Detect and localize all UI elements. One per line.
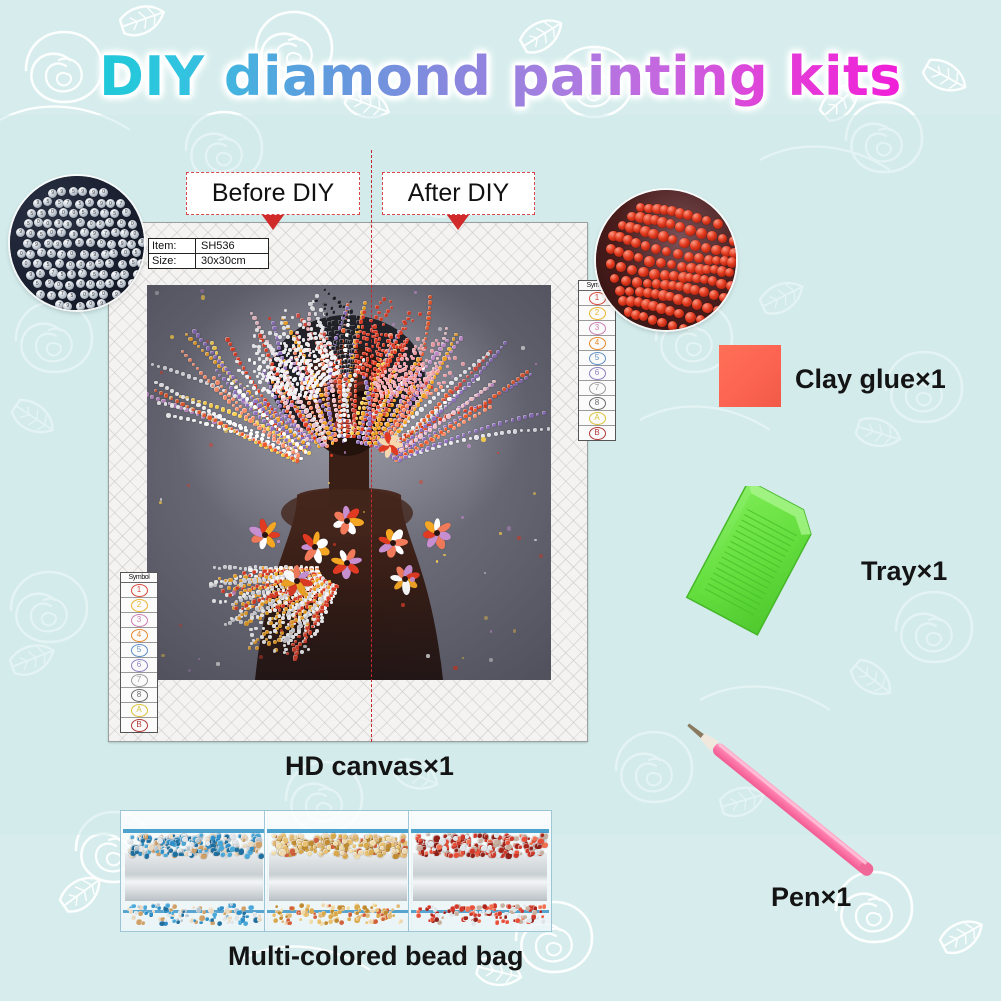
bead [273, 918, 278, 923]
bead [160, 849, 164, 853]
closeup-bead: 0 [96, 280, 105, 289]
bead [509, 910, 513, 914]
bead [199, 921, 203, 925]
closeup-bead: 0 [128, 220, 137, 229]
closeup-bead: 9 [112, 290, 121, 299]
closeup-bead [668, 235, 677, 244]
symbol-row: 6 [579, 366, 615, 381]
bead [193, 919, 196, 922]
bead [130, 835, 134, 839]
closeup-bead: 5 [47, 249, 56, 258]
symbol-row: 6 [121, 658, 157, 673]
pen-label: Pen×1 [771, 882, 851, 913]
symbol-glyph: 8 [131, 689, 148, 702]
bead [539, 910, 542, 913]
closeup-bead: 0 [121, 248, 130, 257]
bead [131, 904, 135, 908]
bead [210, 918, 214, 922]
closeup-bead: 7 [47, 291, 56, 300]
tray-svg [668, 486, 844, 644]
closeup-bead: 9 [97, 199, 106, 208]
bead [234, 847, 238, 851]
closeup-bead: 7 [58, 290, 67, 299]
bead [358, 850, 363, 855]
closeup-bead [675, 222, 685, 232]
closeup-bead [685, 312, 696, 323]
bead [257, 917, 262, 922]
closeup-bead: 5 [117, 279, 126, 288]
tray-image [668, 486, 844, 644]
before-diy-closeup-circle: 9959909557599075500055750500999090009050… [10, 176, 144, 310]
bead [181, 841, 186, 846]
closeup-bead: 7 [101, 229, 110, 238]
pen-svg [666, 706, 916, 906]
bead [309, 908, 314, 913]
bead [465, 906, 470, 911]
bead [317, 919, 322, 924]
bead [219, 906, 223, 910]
closeup-bead [641, 241, 651, 251]
closeup-bead: 9 [118, 260, 127, 269]
closeup-bead: 5 [37, 230, 46, 239]
bead [144, 911, 148, 915]
bead [210, 835, 216, 841]
closeup-bead: 9 [53, 240, 62, 249]
closeup-bead: 0 [48, 208, 57, 217]
bead [252, 912, 257, 917]
bead [504, 915, 508, 919]
symbol-glyph: 6 [131, 659, 148, 672]
bead [131, 915, 136, 920]
red-bead-bag [408, 810, 552, 932]
bead [340, 851, 344, 855]
closeup-bead: 5 [105, 259, 114, 268]
bead [213, 851, 217, 855]
infographic-stage: DIY diamond painting kits Before DIY Aft… [0, 0, 1001, 1001]
bead [339, 920, 344, 925]
bead [143, 905, 147, 909]
bead [333, 850, 339, 856]
bead [453, 836, 458, 841]
closeup-bead: 7 [49, 268, 58, 277]
symbol-glyph: 1 [131, 584, 148, 597]
bead [244, 853, 250, 859]
bead [479, 911, 482, 914]
bead [368, 849, 374, 855]
closeup-bead: 7 [80, 228, 89, 237]
closeup-bead: 7 [55, 259, 64, 268]
symbol-glyph: 5 [131, 644, 148, 657]
bead [392, 853, 399, 860]
bead [439, 838, 446, 845]
bead [129, 909, 134, 914]
closeup-bead: 9 [63, 302, 72, 310]
bead [515, 918, 520, 923]
bead [500, 903, 505, 908]
bead [495, 920, 499, 924]
bead [229, 846, 235, 852]
bead [199, 915, 204, 920]
bead [540, 833, 543, 836]
bead [330, 833, 335, 838]
closeup-bead [668, 321, 678, 330]
closeup-bead [707, 231, 716, 240]
symbol-row: A [121, 703, 157, 718]
bead [482, 904, 487, 909]
closeup-bead [662, 247, 671, 256]
symbol-glyph: 3 [131, 614, 148, 627]
bead [287, 921, 292, 926]
closeup-bead: 9 [118, 239, 127, 248]
bead [245, 915, 248, 918]
closeup-bead [644, 256, 655, 267]
bead [370, 909, 374, 913]
bead [416, 910, 419, 913]
symbol-row: 7 [121, 673, 157, 688]
bead [146, 839, 150, 843]
bead [209, 908, 214, 913]
symbol-row: 8 [121, 688, 157, 703]
before-diy-label: Before DIY [186, 172, 360, 215]
closeup-bead: 7 [23, 239, 32, 248]
closeup-bead [727, 257, 736, 268]
hd-canvas-card [108, 222, 588, 742]
closeup-bead [638, 267, 648, 277]
bead [327, 845, 332, 850]
closeup-bead [616, 262, 626, 272]
bead [509, 836, 513, 840]
closeup-bead: 5 [110, 209, 119, 218]
symbol-glyph: B [131, 719, 148, 732]
bead [196, 907, 202, 913]
symbol-row: 8 [579, 396, 615, 411]
closeup-bead: 0 [99, 188, 108, 197]
bead [203, 847, 207, 851]
bead [180, 919, 183, 922]
symbol-legend-header: Symbol [121, 573, 157, 583]
symbol-row: 5 [121, 643, 157, 658]
closeup-bead: 5 [57, 271, 66, 280]
bead [459, 906, 464, 911]
symbol-row: 7 [579, 381, 615, 396]
size-key: Size: [149, 254, 196, 268]
closeup-bead: 9 [16, 228, 25, 237]
symbol-row: 3 [121, 613, 157, 628]
closeup-bead: 0 [66, 261, 75, 270]
bead [302, 841, 308, 847]
closeup-bead: 5 [80, 250, 89, 259]
closeup-bead: 0 [137, 259, 144, 268]
bead [230, 920, 234, 924]
bead [370, 906, 373, 909]
closeup-bead [719, 293, 728, 302]
closeup-bead [699, 287, 708, 296]
symbol-glyph: 4 [589, 337, 606, 350]
closeup-bead [702, 303, 713, 314]
closeup-bead: 0 [105, 218, 114, 227]
bead [416, 913, 421, 918]
bead [227, 852, 232, 857]
bead [363, 842, 369, 848]
closeup-bead [713, 219, 723, 229]
bead [151, 904, 155, 908]
bead [241, 906, 246, 911]
closeup-bead: 0 [34, 218, 43, 227]
closeup-bead: 0 [122, 208, 131, 217]
bead [493, 908, 496, 911]
bead [289, 906, 293, 910]
clay-glue-swatch [719, 345, 781, 407]
bead [469, 912, 473, 916]
symbol-legend-left: Symbol 12345678AB [120, 572, 158, 733]
bead [525, 848, 529, 852]
bead [518, 845, 522, 849]
bead [513, 836, 518, 841]
bead [541, 919, 545, 923]
closeup-bead: 7 [100, 209, 109, 218]
closeup-bead: 9 [45, 279, 54, 288]
symbol-glyph: A [589, 412, 606, 425]
bead [527, 837, 530, 840]
bead [460, 845, 466, 851]
closeup-bead: 5 [69, 187, 78, 196]
closeup-bead [679, 324, 688, 330]
closeup-bead: 0 [99, 270, 108, 279]
bead [202, 910, 206, 914]
closeup-bead: 0 [59, 208, 68, 217]
bead [216, 834, 220, 838]
bead [299, 834, 304, 839]
closeup-bead: 9 [138, 238, 144, 247]
bead [321, 911, 326, 916]
bead [206, 841, 210, 845]
bead [301, 910, 305, 914]
bead [271, 851, 275, 855]
bead [358, 843, 362, 847]
bead [448, 853, 453, 858]
closeup-bead: 7 [128, 279, 137, 288]
bead [538, 905, 542, 909]
closeup-bead [679, 238, 690, 249]
symbol-row: 4 [579, 336, 615, 351]
bead [255, 841, 261, 847]
bead [426, 833, 429, 836]
symbol-glyph: 2 [131, 599, 148, 612]
closeup-bead [684, 252, 694, 262]
symbol-row: 2 [121, 598, 157, 613]
bead [469, 905, 474, 910]
bead [342, 838, 347, 843]
closeup-bead [729, 236, 736, 246]
symbol-glyph: 5 [589, 352, 606, 365]
bead [248, 905, 253, 910]
bead [505, 920, 508, 923]
bead [309, 919, 314, 924]
bead [355, 911, 359, 915]
closeup-bead: 9 [75, 238, 84, 247]
bead [148, 844, 154, 850]
closeup-bead: 7 [133, 270, 142, 279]
closeup-bead: 9 [44, 239, 53, 248]
closeup-bead: 5 [109, 249, 118, 258]
bead [171, 911, 175, 915]
symbol-row: B [121, 718, 157, 732]
bead [494, 833, 498, 837]
closeup-bead: 0 [99, 290, 108, 299]
bead [352, 844, 356, 848]
bead [375, 908, 379, 912]
symbol-glyph: 8 [589, 397, 606, 410]
bead [454, 911, 458, 915]
bead [378, 837, 382, 841]
bead [396, 904, 400, 908]
bead [346, 906, 350, 910]
closeup-bead: 0 [43, 219, 52, 228]
before-after-divider [371, 150, 372, 742]
bead [299, 903, 304, 908]
symbol-legend-rows: 12345678AB [121, 583, 157, 732]
symbol-row: 1 [121, 583, 157, 598]
bead [399, 919, 403, 923]
closeup-bead: 7 [36, 290, 45, 299]
closeup-bead: 5 [105, 279, 114, 288]
closeup-bead [615, 286, 625, 296]
closeup-bead [658, 231, 669, 242]
closeup-bead: 7 [116, 199, 125, 208]
bead [234, 915, 239, 920]
bead [498, 847, 504, 853]
bead [324, 839, 330, 845]
closeup-bead: 5 [95, 259, 104, 268]
bead [172, 904, 177, 909]
clay-glue-label: Clay glue×1 [795, 364, 946, 395]
gold-bead-bag [264, 810, 412, 932]
symbol-row: 4 [121, 628, 157, 643]
closeup-bead: 5 [90, 208, 99, 217]
before-arrow-icon [262, 215, 284, 230]
bead [434, 917, 439, 922]
closeup-bead: 0 [69, 209, 78, 218]
page-title-wrap: DIY diamond painting kits [0, 45, 1001, 115]
closeup-bead: 9 [120, 270, 129, 279]
symbol-glyph: B [589, 427, 606, 440]
closeup-bead: 9 [97, 299, 106, 308]
bead [463, 916, 467, 920]
bead [242, 838, 246, 842]
tray-label: Tray×1 [861, 556, 947, 587]
closeup-bead [636, 203, 645, 212]
closeup-bead: 0 [106, 199, 115, 208]
closeup-bead: 0 [17, 249, 26, 258]
bead [507, 904, 512, 909]
bead [433, 907, 438, 912]
closeup-bead: 0 [86, 300, 95, 309]
closeup-bead: 7 [33, 259, 42, 268]
closeup-bead [673, 249, 683, 259]
bead [321, 903, 324, 906]
bead [495, 915, 498, 918]
bead [373, 919, 378, 924]
bead [194, 843, 198, 847]
bead [192, 906, 195, 909]
blue-bead-bag [120, 810, 268, 932]
closeup-bead [656, 258, 666, 268]
bead [128, 840, 132, 844]
bead [436, 844, 442, 850]
closeup-bead: 7 [57, 250, 66, 259]
closeup-bead: 0 [22, 259, 31, 268]
bead [493, 839, 499, 845]
symbol-glyph: 7 [589, 382, 606, 395]
closeup-bead: 0 [67, 250, 76, 259]
canvas-artwork [147, 285, 551, 680]
closeup-bead: 7 [78, 269, 87, 278]
bead [370, 840, 376, 846]
bead [141, 921, 145, 925]
bead [328, 904, 331, 907]
closeup-bead: 9 [57, 187, 66, 196]
closeup-bead: 7 [57, 228, 66, 237]
closeup-bead [648, 315, 658, 325]
bead [505, 840, 510, 845]
bead [182, 837, 187, 842]
bead [185, 914, 188, 917]
symbol-row: 5 [579, 351, 615, 366]
closeup-bead: 0 [54, 281, 63, 290]
closeup-bead [639, 312, 648, 321]
closeup-bead [649, 269, 660, 280]
bead [537, 844, 541, 848]
bead [334, 918, 339, 923]
bead [497, 911, 502, 916]
bead [240, 917, 245, 922]
closeup-bead: 9 [76, 218, 85, 227]
closeup-bead [665, 306, 675, 316]
bead [348, 912, 353, 917]
bead [476, 905, 481, 910]
closeup-bead [713, 306, 722, 315]
bead [360, 838, 364, 842]
bead [145, 834, 148, 837]
closeup-bead: 7 [63, 199, 72, 208]
bead [140, 838, 145, 843]
symbol-glyph: 7 [131, 674, 148, 687]
bead [526, 918, 532, 924]
closeup-bead: 0 [76, 279, 85, 288]
closeup-bead [651, 244, 661, 254]
bead [134, 850, 139, 855]
closeup-bead: 7 [120, 229, 129, 238]
bead [328, 919, 333, 924]
bead [509, 850, 513, 854]
closeup-bead [725, 268, 734, 277]
closeup-bead [606, 259, 615, 268]
item-key: Item: [149, 239, 196, 253]
closeup-bead: 9 [67, 270, 76, 279]
bead [492, 852, 496, 856]
bead [178, 852, 183, 857]
bead [536, 916, 540, 920]
closeup-bead [690, 240, 701, 251]
bead [542, 904, 546, 908]
closeup-bead [683, 210, 693, 220]
closeup-bead [682, 297, 692, 307]
bead [186, 846, 191, 851]
bead [519, 852, 522, 855]
closeup-bead [610, 274, 619, 283]
bead [233, 840, 238, 845]
bead [289, 834, 294, 839]
